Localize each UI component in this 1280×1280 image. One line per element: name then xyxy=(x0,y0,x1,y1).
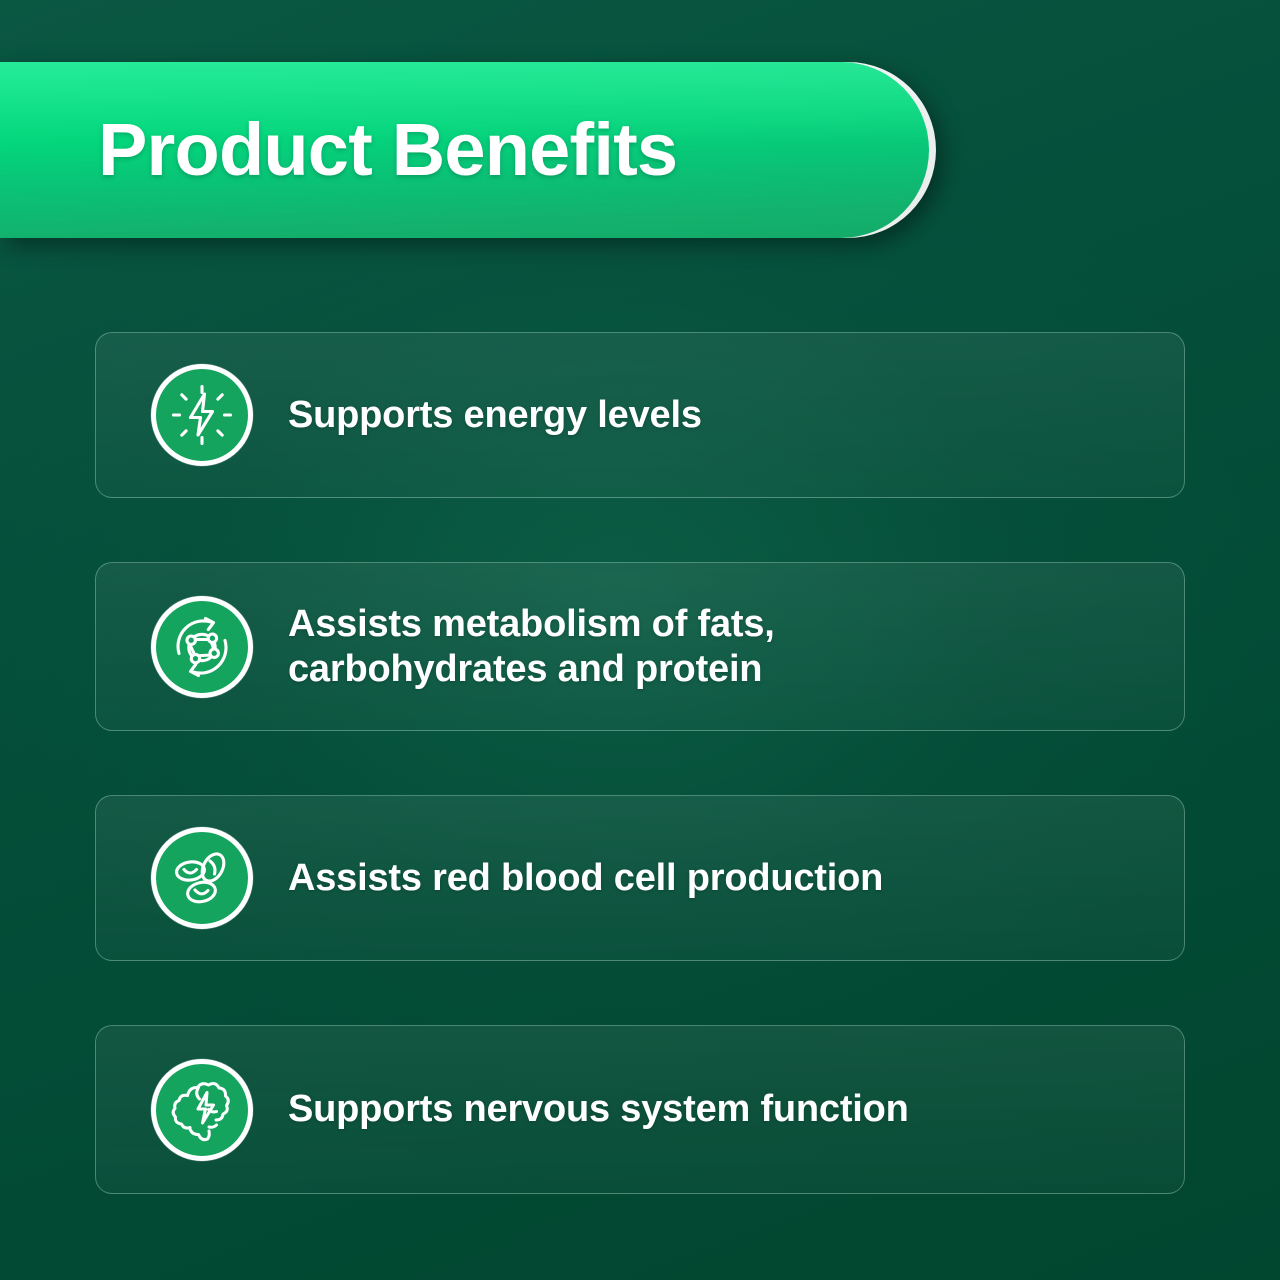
brain-nervous-system-icon xyxy=(151,1059,253,1161)
red-blood-cells-icon xyxy=(151,827,253,929)
banner-fill: Product Benefits xyxy=(0,62,929,238)
lightning-bolt-energy-icon xyxy=(151,364,253,466)
benefit-label: Supports energy levels xyxy=(288,393,702,438)
benefit-card-energy[interactable]: Supports energy levels xyxy=(95,332,1185,498)
benefit-card-metabolism[interactable]: Assists metabolism of fats, carbohydrate… xyxy=(95,562,1185,731)
benefit-card-red-blood-cells[interactable]: Assists red blood cell production xyxy=(95,795,1185,961)
header-banner: Product Benefits xyxy=(0,62,936,238)
benefits-list: Supports energy levels xyxy=(95,332,1185,1194)
metabolism-cycle-icon xyxy=(151,596,253,698)
benefit-label: Supports nervous system function xyxy=(288,1087,909,1132)
benefit-label: Assists metabolism of fats, carbohydrate… xyxy=(288,602,775,692)
benefit-card-nervous-system[interactable]: Supports nervous system function xyxy=(95,1025,1185,1194)
page-title: Product Benefits xyxy=(98,113,677,187)
product-benefits-graphic: Product Benefits Supports energy leve xyxy=(0,0,1280,1280)
benefit-label: Assists red blood cell production xyxy=(288,856,883,901)
